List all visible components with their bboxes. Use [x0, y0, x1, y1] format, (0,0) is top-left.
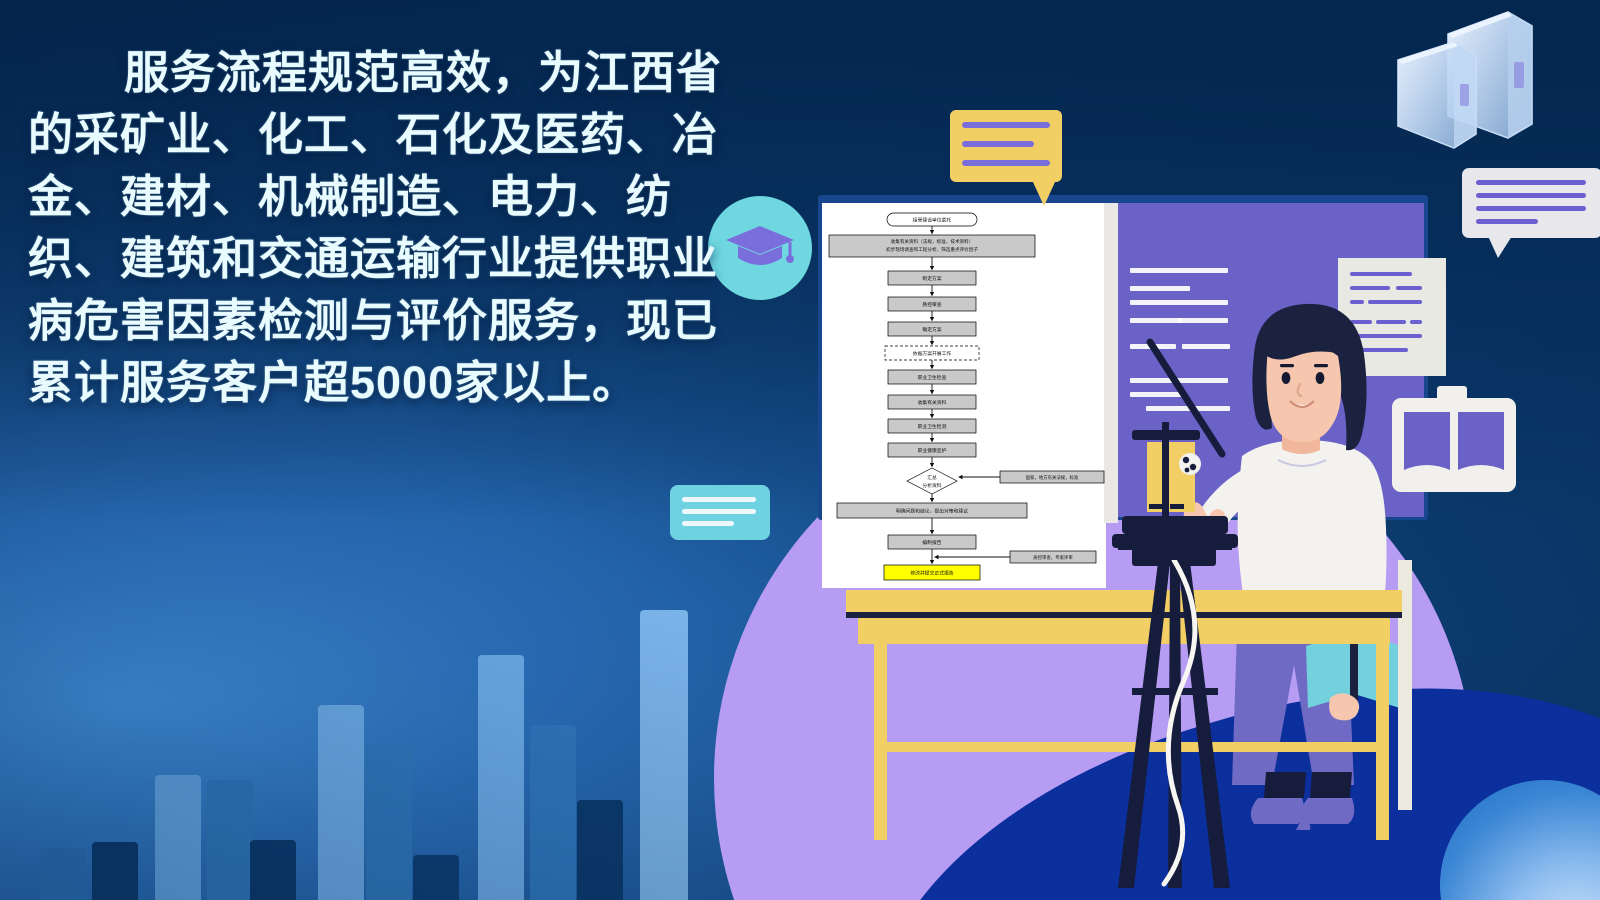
- glass-books-icon: [1380, 4, 1600, 189]
- svg-text:依据方案开展工作: 依据方案开展工作: [913, 350, 952, 357]
- svg-text:编制报告: 编制报告: [922, 539, 941, 546]
- chalk-line: [1130, 318, 1182, 323]
- svg-text:质控审查，专家评审: 质控审查，专家评审: [1033, 554, 1073, 561]
- svg-text:质控审查: 质控审查: [922, 301, 941, 308]
- svg-text:分析资料: 分析资料: [922, 482, 941, 489]
- svg-text:接受建设单位委托: 接受建设单位委托: [913, 216, 952, 223]
- instrument-cable: [1140, 560, 1280, 890]
- svg-text:确定方案: 确定方案: [922, 326, 941, 333]
- chalk-line: [1130, 286, 1190, 291]
- headline-line: 病危害因素检测与评价服务，现已: [28, 290, 768, 352]
- poster-canvas: 接受建设单位委托收集有关资料（法规，标准，技术资料）初步现场调查和工程分析，筛选…: [0, 0, 1600, 900]
- svg-text:制定方案: 制定方案: [922, 275, 941, 282]
- svg-text:修改并提交正式报告: 修改并提交正式报告: [910, 569, 953, 576]
- cyan-speech-bubble-icon: [670, 485, 770, 540]
- flowchart-diagram: 接受建设单位委托收集有关资料（法规，标准，技术资料）初步现场调查和工程分析，筛选…: [822, 203, 1106, 588]
- headline-text: 服务流程规范高效，为江西省 的采矿业、化工、石化及医药、冶 金、建材、机械制造、…: [28, 42, 768, 415]
- svg-text:职业卫生检查: 职业卫生检查: [918, 374, 947, 381]
- svg-text:收集有关资料: 收集有关资料: [918, 399, 947, 406]
- svg-text:收集有关资料（法规，标准，技术资料）: 收集有关资料（法规，标准，技术资料）: [891, 238, 974, 245]
- headline-line: 的采矿业、化工、石化及医药、冶: [28, 104, 768, 166]
- headline-line: 服务流程规范高效，为江西省: [28, 42, 768, 104]
- headline-line: 织、建筑和交通运输行业提供职业: [28, 228, 768, 290]
- yellow-speech-bubble-icon: [950, 110, 1062, 182]
- svg-text:职业卫生检测: 职业卫生检测: [918, 423, 947, 430]
- headline-line: 累计服务客户超5000家以上。: [28, 352, 768, 414]
- chalk-line: [1130, 268, 1228, 273]
- svg-text:汇总: 汇总: [927, 474, 937, 481]
- svg-text:明确问题和结论，提出对策和建议: 明确问题和结论，提出对策和建议: [896, 507, 968, 514]
- headline-line: 金、建材、机械制造、电力、纺: [28, 166, 768, 228]
- svg-text:国家，地方有关法规，标准: 国家，地方有关法规，标准: [1026, 474, 1079, 481]
- svg-text:职业健康监护: 职业健康监护: [918, 447, 947, 454]
- svg-text:初步现场调查和工程分析，筛选重点评价因子: 初步现场调查和工程分析，筛选重点评价因子: [886, 246, 978, 253]
